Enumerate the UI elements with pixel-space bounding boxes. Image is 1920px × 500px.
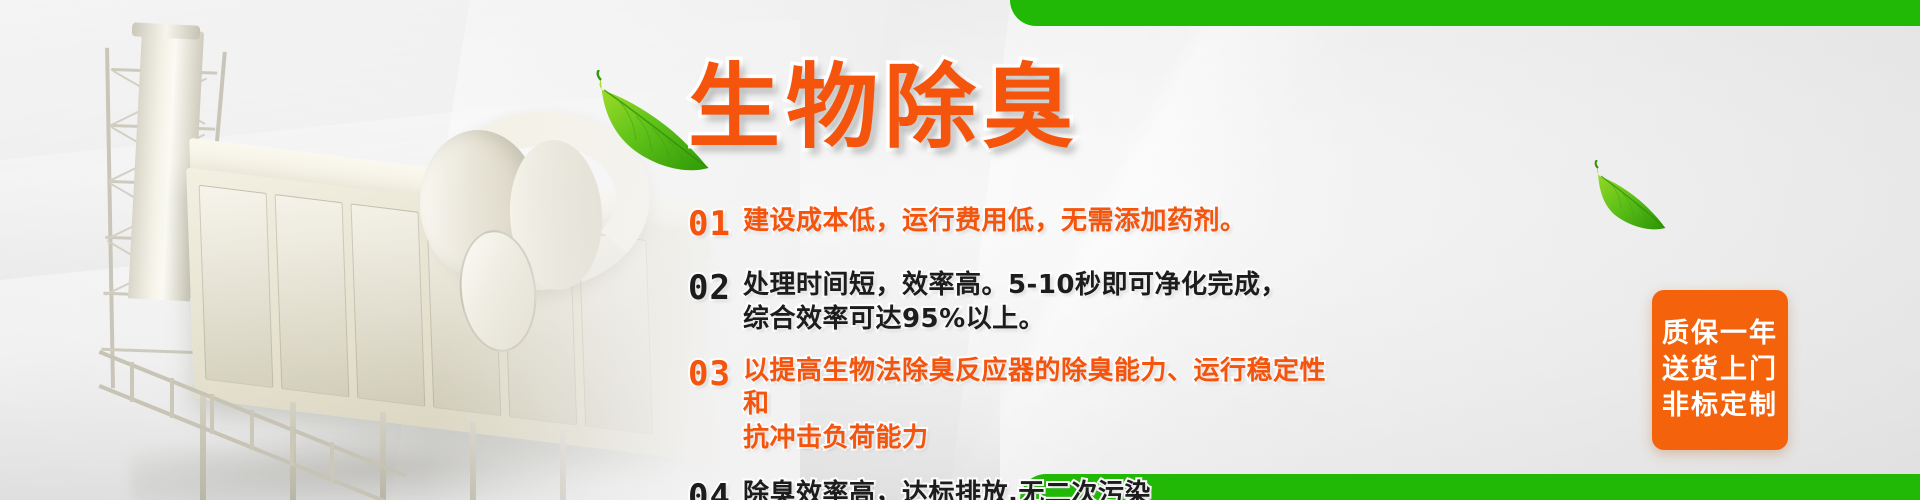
feature-number: 02 bbox=[688, 269, 731, 307]
feature-number: 04 bbox=[688, 478, 731, 500]
feature-item-01: 01 建设成本低，运行费用低，无需添加药剂。 bbox=[688, 205, 1328, 243]
feature-text: 以提高生物法除臭反应器的除臭能力、运行稳定性和 抗冲击负荷能力 bbox=[743, 355, 1328, 456]
feature-line: 建设成本低，运行费用低，无需添加药剂。 bbox=[743, 205, 1247, 239]
feature-line: 除臭效率高，达标排放,无二次污染 bbox=[743, 478, 1151, 500]
feature-text: 建设成本低，运行费用低，无需添加药剂。 bbox=[743, 205, 1247, 239]
feature-line: 处理时间短，效率高。5-10秒即可净化完成， bbox=[743, 269, 1287, 303]
feature-line: 抗冲击负荷能力 bbox=[743, 422, 1328, 456]
feature-line: 综合效率可达95%以上。 bbox=[743, 303, 1287, 337]
badge-line-warranty: 质保一年 bbox=[1662, 319, 1778, 349]
feature-text: 处理时间短，效率高。5-10秒即可净化完成， 综合效率可达95%以上。 bbox=[743, 269, 1287, 337]
green-bar-top bbox=[1010, 0, 1920, 26]
feature-text: 除臭效率高，达标排放,无二次污染 bbox=[743, 478, 1151, 500]
badge-line-delivery: 送货上门 bbox=[1662, 355, 1778, 385]
page-title: 生物除臭 bbox=[688, 62, 1080, 154]
feature-number: 01 bbox=[688, 205, 731, 243]
badge-line-custom: 非标定制 bbox=[1662, 391, 1778, 421]
feature-item-04: 04 除臭效率高，达标排放,无二次污染 bbox=[688, 478, 1328, 500]
feature-item-02: 02 处理时间短，效率高。5-10秒即可净化完成， 综合效率可达95%以上。 bbox=[688, 269, 1328, 337]
promo-banner: 生物除臭 01 建设成本低，运行费用低，无需添加药剂。 02 处理时间短，效率高… bbox=[0, 0, 1920, 500]
service-badge: 质保一年 送货上门 非标定制 bbox=[1652, 290, 1788, 450]
feature-item-03: 03 以提高生物法除臭反应器的除臭能力、运行稳定性和 抗冲击负荷能力 bbox=[688, 355, 1328, 456]
leaf-icon bbox=[1592, 160, 1672, 230]
feature-line: 以提高生物法除臭反应器的除臭能力、运行稳定性和 bbox=[743, 355, 1328, 423]
feature-number: 03 bbox=[688, 355, 731, 393]
feature-list: 01 建设成本低，运行费用低，无需添加药剂。 02 处理时间短，效率高。5-10… bbox=[688, 205, 1328, 500]
